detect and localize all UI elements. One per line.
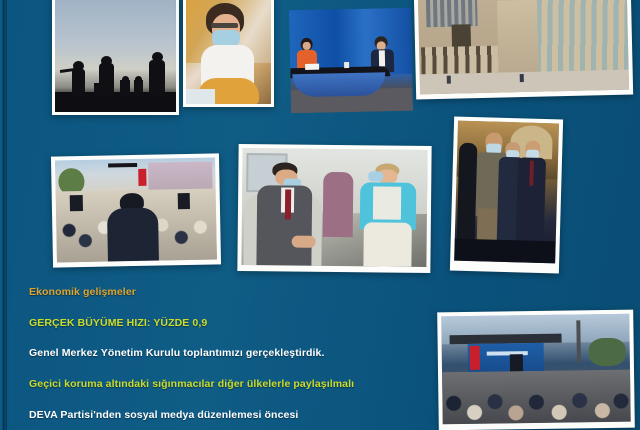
utility-pole bbox=[577, 321, 581, 362]
student-glasses bbox=[211, 23, 238, 28]
guest-shirt bbox=[379, 51, 385, 67]
building-window-grid bbox=[426, 0, 477, 28]
photo-refugee-silhouettes-image bbox=[55, 0, 176, 112]
desk-cup bbox=[344, 62, 349, 68]
photo-tv-studio-image bbox=[289, 8, 413, 114]
rally-banner bbox=[108, 163, 137, 168]
edge-fold-line-2 bbox=[6, 0, 7, 430]
background-person bbox=[323, 172, 353, 237]
official-c-tie bbox=[529, 160, 534, 185]
headline-item-1[interactable]: Ekonomik gelişmeler bbox=[29, 286, 449, 298]
rally-speaker-right bbox=[177, 193, 190, 210]
turkish-flag bbox=[470, 346, 480, 370]
rally-flag bbox=[138, 169, 146, 185]
photo-tv-studio[interactable] bbox=[289, 8, 413, 114]
pedestrian-2 bbox=[520, 74, 524, 82]
building-glass-facade bbox=[537, 0, 629, 76]
silhouette-body-4 bbox=[134, 80, 144, 97]
photo-official-with-child[interactable] bbox=[237, 144, 431, 273]
official-d-shadow bbox=[457, 143, 478, 241]
child-mask bbox=[368, 172, 383, 182]
rally-audience bbox=[442, 370, 631, 424]
silhouette-body-5 bbox=[149, 60, 165, 96]
photo-courthouse-building[interactable] bbox=[414, 0, 633, 99]
photo-outdoor-stage-rally-image bbox=[441, 314, 630, 425]
desk-papers bbox=[305, 63, 320, 69]
photo-rally-crowd-image bbox=[55, 157, 217, 262]
edge-fold-line-1 bbox=[3, 0, 4, 430]
official-hands bbox=[292, 235, 316, 248]
photo-courthouse-building-image bbox=[418, 0, 629, 94]
hall-floor bbox=[454, 238, 556, 263]
official-tie bbox=[284, 189, 291, 219]
headline-item-2[interactable]: GERÇEK BÜYÜME HIZI: YÜZDE 0,9 bbox=[29, 317, 449, 329]
student-desk bbox=[186, 89, 215, 104]
pedestrian-1 bbox=[447, 76, 451, 84]
child-shirt bbox=[373, 187, 401, 220]
photo-masked-student[interactable] bbox=[183, 0, 274, 107]
building-colonnade bbox=[421, 46, 499, 75]
left-edge-strip bbox=[0, 0, 9, 430]
street-trees bbox=[588, 337, 626, 366]
headline-item-4[interactable]: Geçici koruma altındaki sığınmacılar diğ… bbox=[29, 378, 449, 390]
photo-officials-group-image bbox=[454, 121, 559, 264]
host-face bbox=[303, 42, 310, 50]
photo-official-with-child-image bbox=[241, 148, 427, 267]
silhouette-bag-2 bbox=[94, 83, 102, 97]
collage-canvas: Ekonomik gelişmeler GERÇEK BÜYÜME HIZI: … bbox=[0, 0, 640, 430]
headline-item-3[interactable]: Genel Merkez Yönetim Kurulu toplantımızı… bbox=[29, 347, 449, 359]
studio-desk-front bbox=[293, 72, 386, 97]
silhouette-body-3 bbox=[120, 80, 130, 97]
photo-rally-crowd[interactable] bbox=[51, 153, 221, 267]
photo-officials-group[interactable] bbox=[450, 117, 563, 274]
photo-outdoor-stage-rally[interactable] bbox=[437, 310, 635, 430]
headline-item-5[interactable]: DEVA Partisi'nden sosyal medya düzenleme… bbox=[29, 408, 449, 422]
rally-speaker-left bbox=[70, 195, 83, 212]
speaker-silhouette-body bbox=[107, 208, 159, 262]
headline-list: Ekonomik gelişmeler GERÇEK BÜYÜME HIZI: … bbox=[29, 286, 449, 422]
child-trousers bbox=[363, 222, 412, 267]
photo-masked-student-image bbox=[186, 0, 271, 104]
photo-refugee-silhouettes[interactable] bbox=[52, 0, 179, 115]
rally-buildings bbox=[148, 162, 213, 192]
silhouette-body-1 bbox=[72, 69, 85, 96]
